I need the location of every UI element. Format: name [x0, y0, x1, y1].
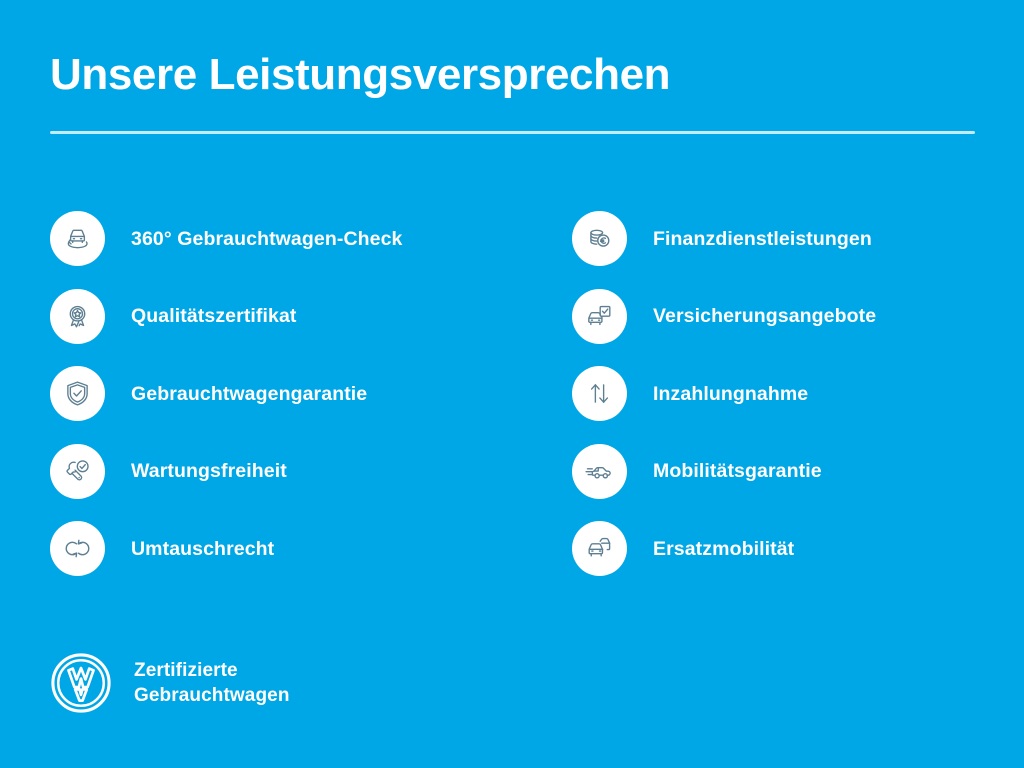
- feature-item-ersatzmobilitaet[interactable]: Ersatzmobilität: [572, 510, 976, 588]
- feature-item-versicherungsangebote[interactable]: Versicherungsangebote: [572, 278, 976, 356]
- car-motion-icon: [572, 444, 627, 499]
- feature-label: Wartungsfreiheit: [131, 459, 287, 483]
- coins-euro-icon: [572, 211, 627, 266]
- feature-label: Versicherungsangebote: [653, 304, 876, 328]
- feature-label: Inzahlungnahme: [653, 382, 808, 406]
- feature-grid: 360° Gebrauchtwagen-Check Finanzdienstle…: [50, 200, 976, 588]
- slide-root: Unsere Leistungsversprechen 360° Gebrauc…: [0, 0, 1024, 768]
- brand-text: Zertifizierte Gebrauchtwagen: [134, 658, 290, 708]
- car-360-check-icon: [50, 211, 105, 266]
- shield-check-icon: [50, 366, 105, 421]
- award-rosette-icon: [50, 289, 105, 344]
- header: Unsere Leistungsversprechen: [50, 48, 976, 102]
- two-cars-icon: [572, 521, 627, 576]
- brand-line-2: Gebrauchtwagen: [134, 683, 290, 708]
- feature-item-gebrauchtwagengarantie[interactable]: Gebrauchtwagengarantie: [50, 355, 572, 433]
- feature-item-wartungsfreiheit[interactable]: Wartungsfreiheit: [50, 433, 572, 511]
- title-divider: [50, 131, 975, 134]
- exchange-arrows-icon: [50, 521, 105, 576]
- feature-item-inzahlungnahme[interactable]: Inzahlungnahme: [572, 355, 976, 433]
- feature-item-qualitaetszertifikat[interactable]: Qualitätszertifikat: [50, 278, 572, 356]
- feature-item-mobilitaetsgarantie[interactable]: Mobilitätsgarantie: [572, 433, 976, 511]
- brand-footer: Zertifizierte Gebrauchtwagen: [50, 652, 290, 714]
- volkswagen-logo-icon: [50, 652, 112, 714]
- page-title: Unsere Leistungsversprechen: [50, 48, 976, 102]
- brand-line-1: Zertifizierte: [134, 658, 290, 683]
- feature-label: Gebrauchtwagengarantie: [131, 382, 367, 406]
- feature-item-360-check[interactable]: 360° Gebrauchtwagen-Check: [50, 200, 572, 278]
- feature-label: Finanzdienstleistungen: [653, 227, 872, 251]
- feature-label: 360° Gebrauchtwagen-Check: [131, 227, 402, 251]
- feature-label: Umtauschrecht: [131, 537, 274, 561]
- up-down-arrows-icon: [572, 366, 627, 421]
- wrench-check-icon: [50, 444, 105, 499]
- feature-label: Ersatzmobilität: [653, 537, 794, 561]
- feature-label: Mobilitätsgarantie: [653, 459, 822, 483]
- car-document-check-icon: [572, 289, 627, 344]
- feature-label: Qualitätszertifikat: [131, 304, 297, 328]
- feature-item-umtauschrecht[interactable]: Umtauschrecht: [50, 510, 572, 588]
- feature-item-finanzdienstleistungen[interactable]: Finanzdienstleistungen: [572, 200, 976, 278]
